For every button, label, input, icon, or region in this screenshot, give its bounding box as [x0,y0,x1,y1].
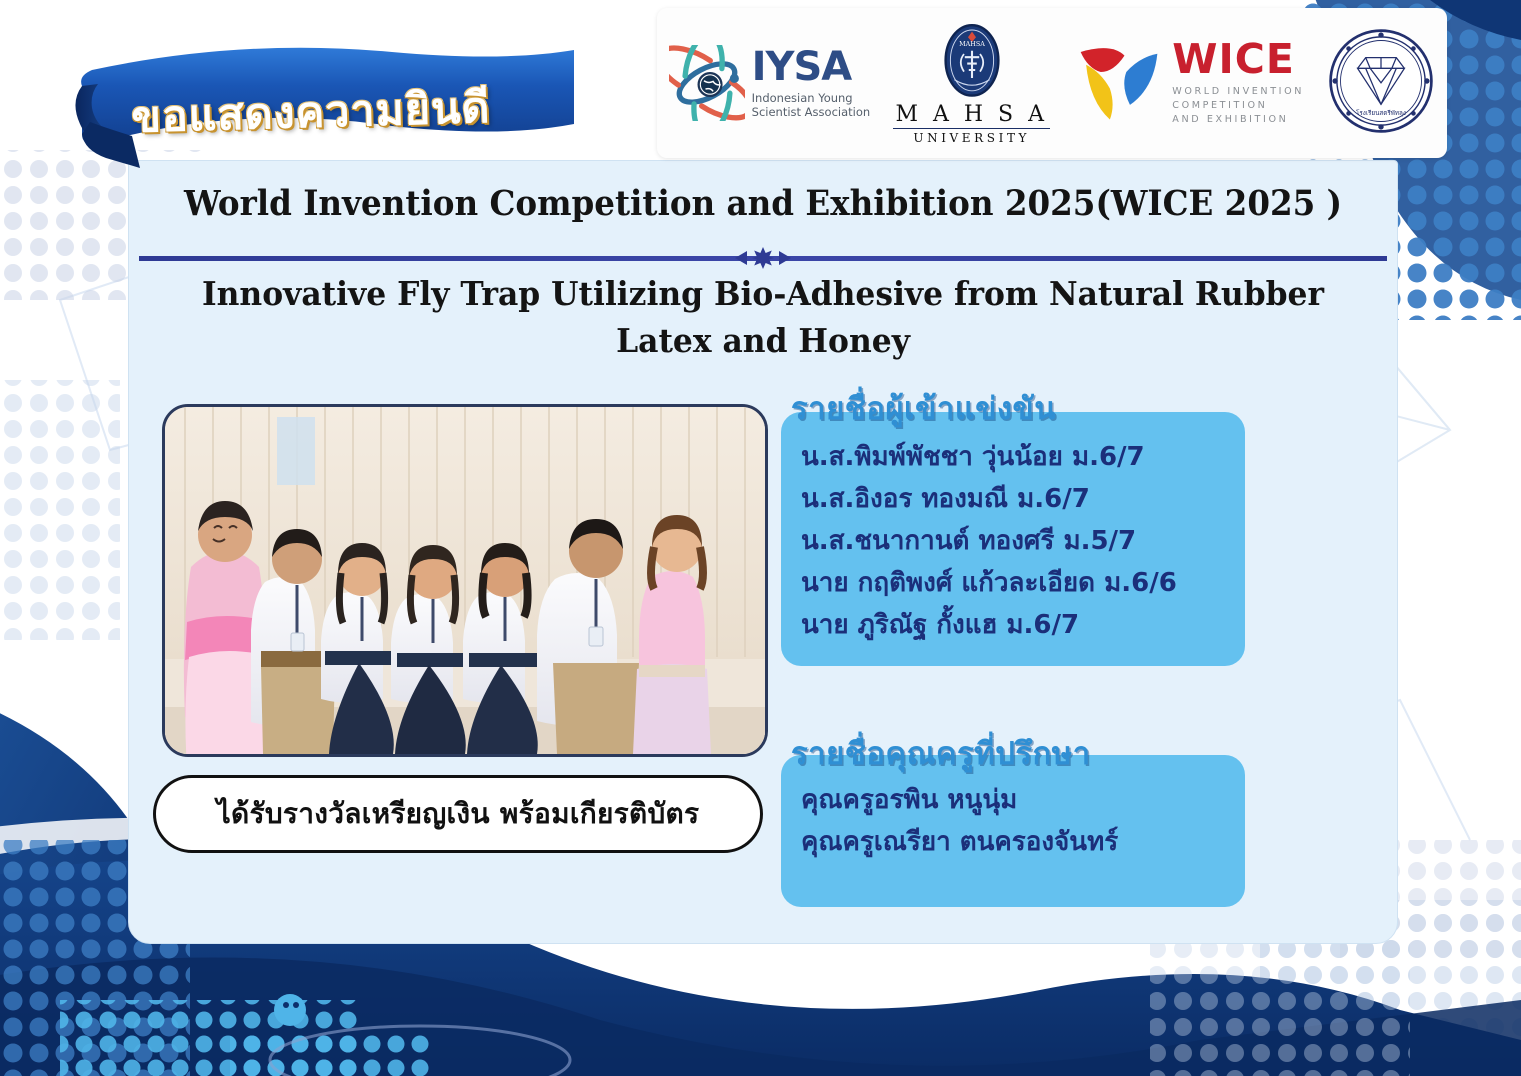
wice-line3: AND EXHIBITION [1172,113,1304,127]
iysa-line1: Indonesian Young [752,91,871,105]
logo-iysa: IYSA Indonesian Young Scientist Associat… [669,45,871,121]
mahsa-sub: UNIVERSITY [913,131,1030,145]
list-item: นาย กฤติพงศ์ แก้วละเอียด ม.6/6 [801,562,1241,604]
list-item: น.ส.พิมพ์พัชชา วุ่นน้อย ม.6/7 [801,436,1241,478]
divider-arrow-left-icon [735,251,747,265]
congratulations-ribbon [62,46,582,176]
project-title: Innovative Fly Trap Utilizing Bio-Adhesi… [189,271,1337,365]
students-heading: รายชื่อผู้เข้าแข่งขัน [791,383,1056,433]
atom-globe-icon [669,45,745,121]
wice-line1: WORLD INVENTION [1172,85,1304,99]
iysa-name: IYSA [752,47,871,87]
iysa-line2: Scientist Association [752,105,871,119]
team-photo-image [165,407,765,754]
logo-strip: IYSA Indonesian Young Scientist Associat… [657,8,1447,158]
divider-arrow-right-icon [779,251,791,265]
list-item: นาย ภูริณัฐ กั้งแฮ ม.6/7 [801,604,1241,646]
award-caption: ได้รับรางวัลเหรียญเงิน พร้อมเกียรติบัตร [153,775,763,853]
svg-text:MAHSA: MAHSA [959,40,985,48]
teachers-heading: รายชื่อคุณครูที่ปรึกษา [791,728,1091,778]
wice-name: WICE [1172,39,1304,80]
main-card: World Invention Competition and Exhibiti… [128,160,1398,944]
wice-line2: COMPETITION [1172,99,1304,113]
team-photo [162,404,768,757]
logo-school: โรงเรียนสตรีพัทลุง [1327,27,1435,139]
page-title: World Invention Competition and Exhibiti… [173,183,1352,224]
svg-text:โรงเรียนสตรีพัทลุง: โรงเรียนสตรีพัทลุง [1356,109,1406,117]
list-item: คุณครูอรพิน หนูนุ่ม [801,779,1241,821]
divider-star-icon [752,247,774,269]
mahsa-crest-icon: MAHSA [939,22,1005,102]
teachers-list: คุณครูอรพิน หนูนุ่ม คุณครูเณรียา ตนครองจ… [801,779,1241,863]
logo-mahsa: MAHSA M A H S A UNIVERSITY [893,22,1050,145]
ornamental-divider [139,247,1387,269]
list-item: น.ส.อิงอร ทองมณี ม.6/7 [801,478,1241,520]
logo-wice: WICE WORLD INVENTION COMPETITION AND EXH… [1073,39,1304,127]
list-item: น.ส.ชนากานต์ ทองศรี ม.5/7 [801,520,1241,562]
students-list: น.ส.พิมพ์พัชชา วุ่นน้อย ม.6/7 น.ส.อิงอร … [801,436,1241,647]
wice-triangle-icon [1073,41,1165,125]
mahsa-name: M A H S A [893,102,1050,129]
award-caption-text: ได้รับรางวัลเหรียญเงิน พร้อมเกียรติบัตร [217,792,700,836]
school-diamond-seal-icon: โรงเรียนสตรีพัทลุง [1327,27,1435,135]
list-item: คุณครูเณรียา ตนครองจันทร์ [801,821,1241,863]
